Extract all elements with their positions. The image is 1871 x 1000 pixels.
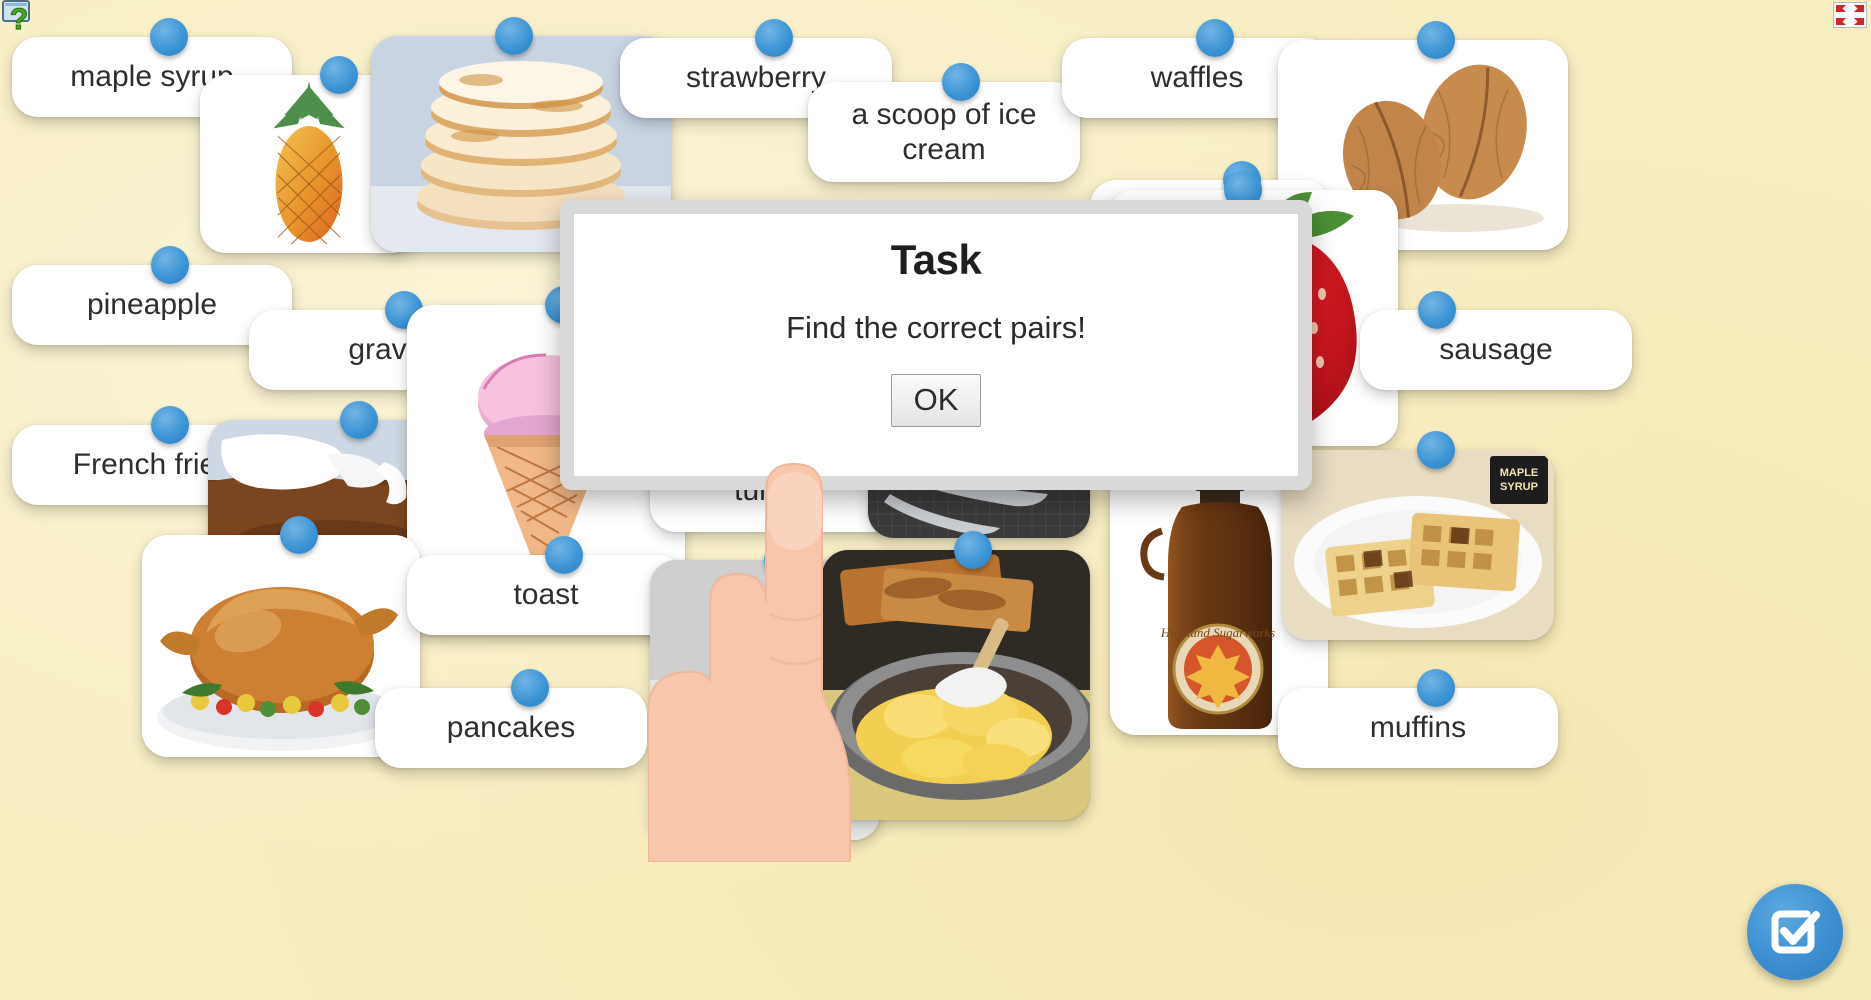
confirm-check-button[interactable] (1747, 884, 1843, 980)
card-scrambled-eggs-pic[interactable] (822, 550, 1090, 820)
dialog-title: Task (891, 236, 982, 284)
task-dialog: Task Find the correct pairs! OK (560, 200, 1312, 490)
card-ice-cream-word[interactable]: a scoop of ice cream (808, 82, 1080, 182)
card-label: pineapple (87, 287, 217, 322)
card-toast-word[interactable]: toast (407, 555, 685, 635)
checkbox-check-icon (1767, 904, 1823, 960)
svg-text:SYRUP: SYRUP (1500, 481, 1538, 493)
card-handle-dot[interactable] (151, 406, 189, 444)
card-handle-dot[interactable] (511, 669, 549, 707)
card-handle-dot[interactable] (1417, 21, 1455, 59)
card-handle-dot[interactable] (320, 56, 358, 94)
card-handle-dot[interactable] (764, 541, 802, 579)
card-handle-dot[interactable] (942, 63, 980, 101)
scrambled-eggs-image (822, 550, 1090, 820)
card-handle-dot[interactable] (755, 19, 793, 57)
dialog-message: Find the correct pairs! (786, 310, 1086, 346)
svg-text:Highland Sugarworks: Highland Sugarworks (1160, 625, 1275, 640)
svg-text:MAPLE: MAPLE (1500, 467, 1539, 479)
card-handle-dot[interactable] (1196, 19, 1234, 57)
card-image-waffle-plate-image: MAPLE SYRUP (1282, 450, 1554, 640)
help-question-mark-icon[interactable]: ? (2, 0, 36, 34)
question-mark-icon: ? (2, 0, 36, 34)
card-label: sausage (1439, 332, 1552, 367)
card-handle-dot[interactable] (545, 536, 583, 574)
card-handle-dot[interactable] (1417, 431, 1455, 469)
dialog-ok-button[interactable]: OK (891, 374, 982, 427)
card-muffins-word[interactable]: muffins (1278, 688, 1558, 768)
card-label: waffles (1151, 60, 1244, 95)
card-handle-dot[interactable] (151, 246, 189, 284)
task-dialog-body: Task Find the correct pairs! OK (574, 214, 1298, 476)
card-label: a scoop of ice cream (826, 97, 1062, 168)
card-handle-dot[interactable] (1417, 669, 1455, 707)
card-label: toast (513, 577, 578, 612)
waffle-plate-image: MAPLE SYRUP (1282, 450, 1554, 640)
card-label: muffins (1370, 710, 1466, 745)
fullscreen-expand-icon[interactable] (1833, 2, 1867, 28)
card-pancakes-word[interactable]: pancakes (375, 688, 647, 768)
svg-text:?: ? (10, 3, 28, 34)
card-sausage-word[interactable]: sausage (1360, 310, 1632, 390)
card-handle-dot[interactable] (150, 18, 188, 56)
card-handle-dot[interactable] (340, 401, 378, 439)
card-handle-dot[interactable] (495, 17, 533, 55)
card-waffle-pic[interactable]: MAPLE SYRUP (1282, 450, 1554, 640)
card-handle-dot[interactable] (954, 531, 992, 569)
card-handle-dot[interactable] (1418, 291, 1456, 329)
card-handle-dot[interactable] (280, 516, 318, 554)
expand-arrows-icon (1833, 2, 1867, 28)
card-label: pancakes (447, 710, 575, 745)
card-image-scrambled-eggs-image (822, 550, 1090, 820)
matching-game-board: maple syrup (0, 0, 1871, 1000)
card-label: strawberry (686, 60, 826, 95)
